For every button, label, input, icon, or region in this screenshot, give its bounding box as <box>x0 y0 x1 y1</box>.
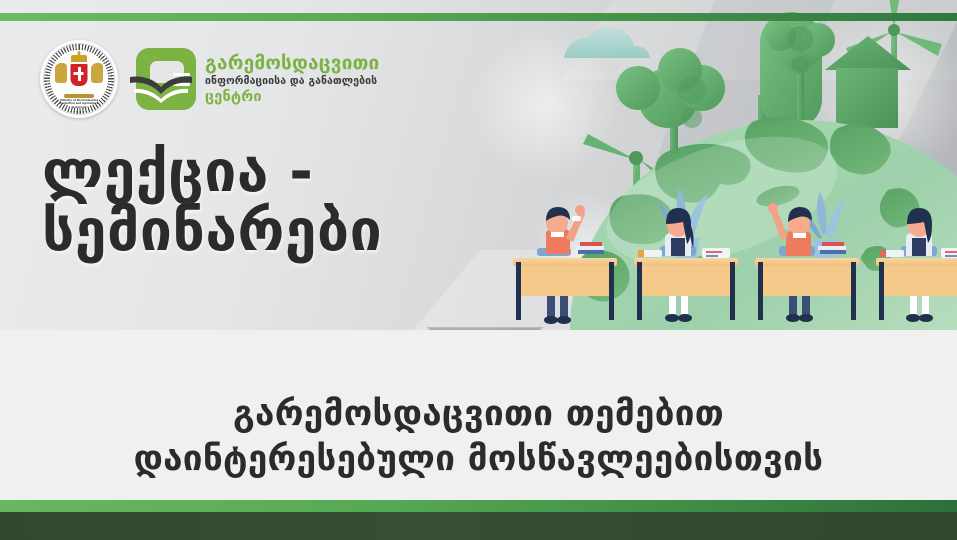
brand-line-2: ინფორმაციისა და განათლების <box>205 76 379 87</box>
student-hand-raised-left <box>513 205 617 324</box>
slide-subtitle: გარემოსდაცვითი თემებით დაინტერესებული მო… <box>0 392 957 482</box>
book-stack <box>818 242 846 254</box>
student-girl-pinafore-1 <box>634 208 738 322</box>
logo-row: Ministry of Environmental Protection and… <box>40 40 379 118</box>
subtitle-line-1: გარემოსდაცვითი თემებით <box>0 392 957 437</box>
subtitle-line-2: დაინტერესებული მოსწავლეებისთვის <box>0 437 957 482</box>
student-girl-pinafore-2 <box>876 208 957 322</box>
subtitle-panel: გარემოსდაცვითი თემებით დაინტერესებული მო… <box>0 330 957 500</box>
slide-title: ლექცია - სემინარები <box>42 143 512 260</box>
hero-panel: Ministry of Environmental Protection and… <box>0 0 957 330</box>
seal-caption-line3: of Georgia <box>57 106 101 109</box>
brand-line-3: ცენტრი <box>205 90 379 105</box>
footer-bar <box>0 512 957 540</box>
student-hand-raised-right <box>755 203 859 322</box>
ministry-seal-icon: Ministry of Environmental Protection and… <box>40 40 118 118</box>
brand-line-1: გარემოსდაცვითი <box>205 54 379 73</box>
book-stack <box>576 242 604 254</box>
presentation-slide: Ministry of Environmental Protection and… <box>0 0 957 540</box>
center-logo: გარემოსდაცვითი ინფორმაციისა და განათლები… <box>136 48 379 110</box>
open-book-logo-icon <box>136 48 196 110</box>
bottom-accent-bar <box>0 500 957 512</box>
top-accent-bar <box>0 13 957 21</box>
